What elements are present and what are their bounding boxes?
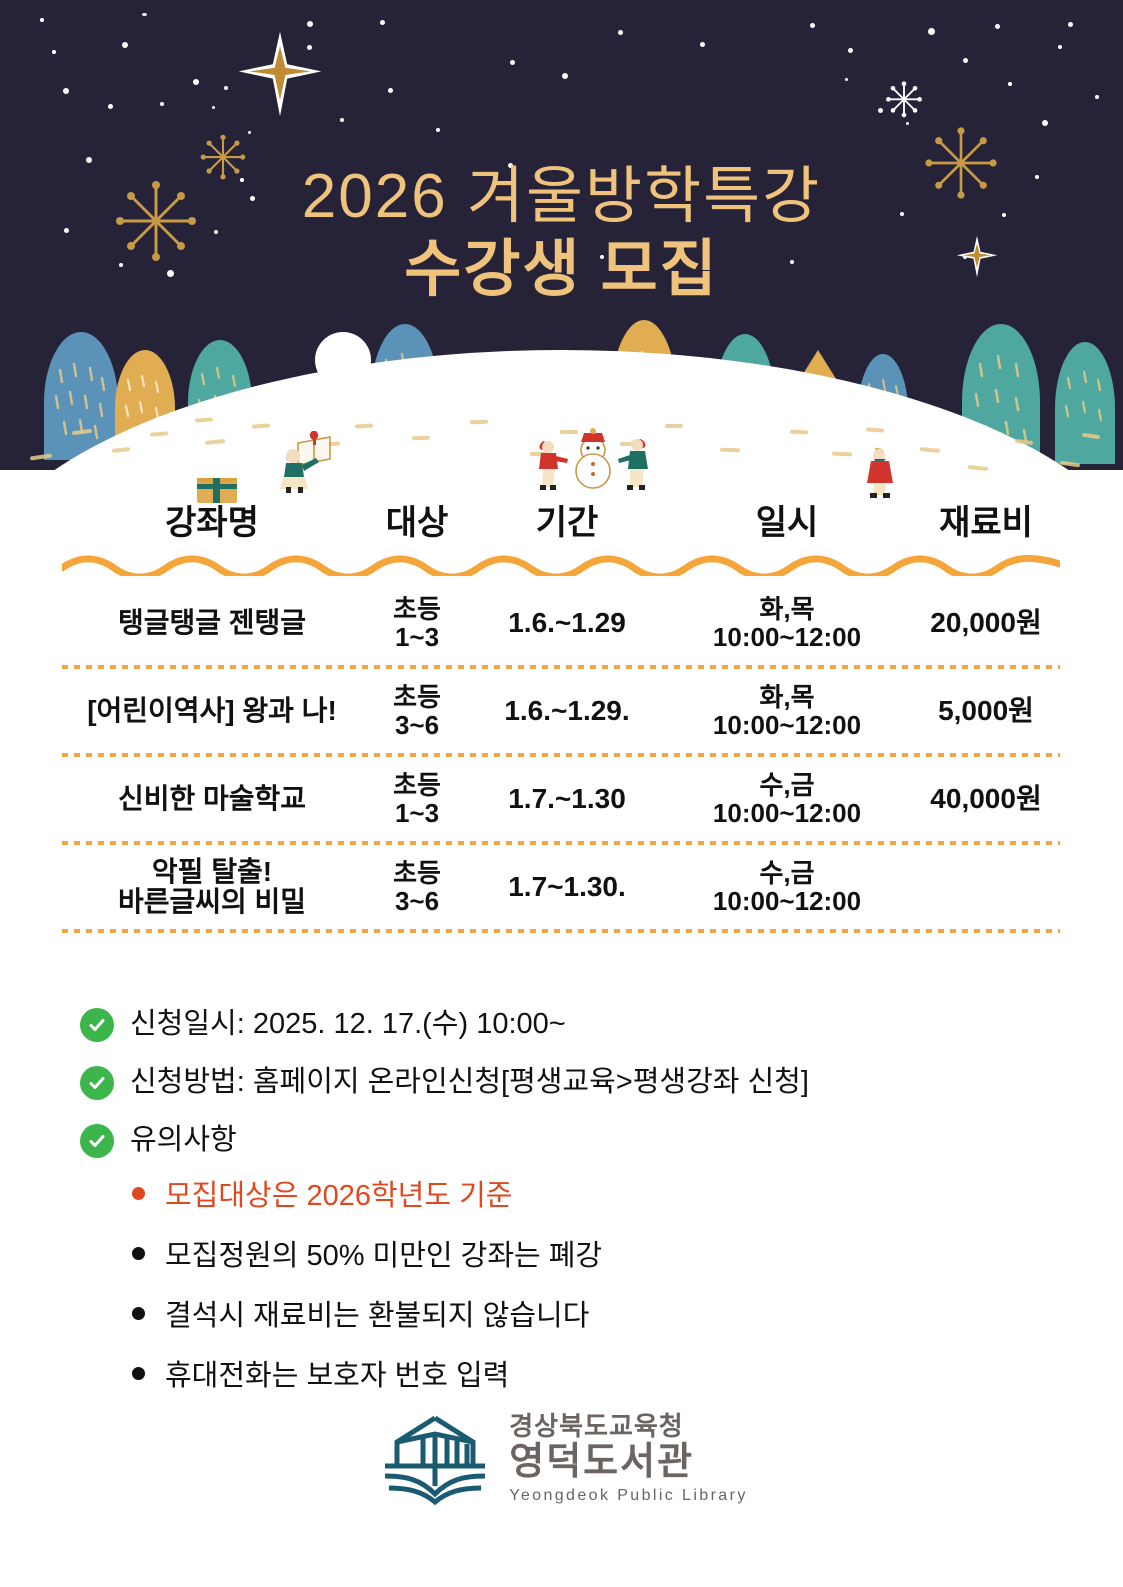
check-circle-icon <box>80 1066 114 1100</box>
table-row: [어린이역사] 왕과 나! 초등 3~6 1.6.~1.29. 화,목 10:0… <box>62 669 1060 753</box>
star-dot <box>436 128 440 132</box>
star-dot <box>1095 95 1099 99</box>
snow-mark <box>720 448 740 453</box>
course-name-line-2: 바른글씨의 비밀 <box>62 887 362 917</box>
wavy-divider <box>62 554 1060 576</box>
target-line-1: 초등 <box>362 771 472 799</box>
col-header-when: 일시 <box>662 495 912 544</box>
col-header-period: 기간 <box>472 495 662 544</box>
when-line-1: 화,목 <box>662 683 912 711</box>
cell-period: 1.7.~1.30 <box>472 784 662 814</box>
check-circle-icon <box>80 1008 114 1042</box>
snow-mark <box>790 430 808 435</box>
bullet-dot-icon <box>132 1187 145 1200</box>
snow-mark <box>470 420 488 425</box>
notice-text: 모집정원의 50% 미만인 강좌는 폐강 <box>165 1232 602 1274</box>
star-dot <box>40 18 44 22</box>
list-item: 휴대전화는 보호자 번호 입력 <box>132 1352 1060 1394</box>
info-apply-date-text: 신청일시: 2025. 12. 17.(수) 10:00~ <box>130 1009 566 1041</box>
course-name-line-1: 악필 탈출! <box>62 857 362 887</box>
child-with-book <box>272 425 334 500</box>
star-dot <box>810 23 815 28</box>
when-line-2: 10:00~12:00 <box>662 623 912 651</box>
star-dot <box>160 102 164 106</box>
cell-course-name: 신비한 마술학교 <box>62 784 362 814</box>
notice-text: 결석시 재료비는 환불되지 않습니다 <box>165 1292 589 1334</box>
star-dot <box>562 73 568 79</box>
bullet-dot-icon <box>132 1367 145 1380</box>
star-dot <box>340 118 344 122</box>
cell-target: 초등 1~3 <box>362 595 472 651</box>
target-line-2: 3~6 <box>362 887 472 915</box>
star-dot <box>307 21 313 27</box>
info-notice-heading: 유의사항 <box>80 1124 1060 1158</box>
cell-fee: 20,000원 <box>912 608 1060 638</box>
cell-target: 초등 1~3 <box>362 771 472 827</box>
info-section: 신청일시: 2025. 12. 17.(수) 10:00~ 신청방법: 홈페이지… <box>80 1008 1060 1412</box>
star-dot <box>1058 45 1062 49</box>
star-dot <box>142 13 147 16</box>
star-dot <box>388 88 393 93</box>
when-line-1: 수,금 <box>662 771 912 799</box>
poster: 2026 겨울방학특강 수강생 모집 강좌명 대상 기간 일시 재료비 탱글탱글… <box>0 0 1123 1587</box>
snowman-scene <box>530 425 670 500</box>
table-row: 악필 탈출! 바른글씨의 비밀 초등 3~6 1.7~1.30. 수,금 10:… <box>62 845 1060 929</box>
course-table: 강좌명 대상 기간 일시 재료비 탱글탱글 젠탱글 초등 1~3 1.6.~1.… <box>62 495 1060 933</box>
star-dot <box>63 88 69 94</box>
star-dot <box>963 58 968 63</box>
when-line-2: 10:00~12:00 <box>662 799 912 827</box>
info-apply-method: 신청방법: 홈페이지 온라인신청[평생교육>평생강좌 신청] <box>80 1066 1060 1100</box>
when-line-2: 10:00~12:00 <box>662 887 912 915</box>
cell-fee: 40,000원 <box>912 784 1060 814</box>
star-dot <box>1008 82 1012 86</box>
cell-period: 1.7~1.30. <box>472 872 662 902</box>
logo-line-3: Yeongdeok Public Library <box>509 1488 747 1504</box>
target-line-1: 초등 <box>362 859 472 887</box>
cell-when: 화,목 10:00~12:00 <box>662 595 912 651</box>
col-header-target: 대상 <box>362 495 472 544</box>
check-circle-icon <box>80 1124 114 1158</box>
star-dot <box>845 78 848 81</box>
row-divider <box>62 929 1060 933</box>
target-line-1: 초등 <box>362 683 472 711</box>
target-line-1: 초등 <box>362 595 472 623</box>
star-dot <box>928 28 935 35</box>
table-row: 신비한 마술학교 초등 1~3 1.7.~1.30 수,금 10:00~12:0… <box>62 757 1060 841</box>
cell-when: 수,금 10:00~12:00 <box>662 771 912 827</box>
star-dot <box>618 30 623 35</box>
notice-text: 휴대전화는 보호자 번호 입력 <box>165 1352 509 1394</box>
star-dot <box>995 24 1000 29</box>
cell-course-name: [어린이역사] 왕과 나! <box>62 696 362 726</box>
poster-title: 2026 겨울방학특강 수강생 모집 <box>0 160 1123 306</box>
notice-list: 모집대상은 2026학년도 기준 모집정원의 50% 미만인 강좌는 폐강 결석… <box>132 1172 1060 1394</box>
snow-mark <box>412 436 430 441</box>
logo-line-2: 영덕도서관 <box>509 1443 747 1481</box>
star-dot <box>52 50 56 54</box>
cell-course-name: 악필 탈출! 바른글씨의 비밀 <box>62 857 362 917</box>
star-dot <box>193 79 199 85</box>
cell-period: 1.6.~1.29 <box>472 608 662 638</box>
when-line-1: 화,목 <box>662 595 912 623</box>
title-line-2: 수강생 모집 <box>0 233 1123 306</box>
col-header-name: 강좌명 <box>62 495 362 544</box>
list-item: 결석시 재료비는 환불되지 않습니다 <box>132 1292 1060 1334</box>
list-item: 모집정원의 50% 미만인 강좌는 폐강 <box>132 1232 1060 1274</box>
target-line-2: 1~3 <box>362 623 472 651</box>
star-dot <box>224 86 228 90</box>
target-line-2: 1~3 <box>362 799 472 827</box>
info-notice-heading-text: 유의사항 <box>130 1125 237 1157</box>
cell-fee: 5,000원 <box>912 696 1060 726</box>
bullet-dot-icon <box>132 1247 145 1260</box>
snowflake-icon-white <box>883 78 925 123</box>
cell-target: 초등 3~6 <box>362 683 472 739</box>
cell-target: 초등 3~6 <box>362 859 472 915</box>
table-header-row: 강좌명 대상 기간 일시 재료비 <box>62 495 1060 548</box>
col-header-fee: 재료비 <box>912 495 1060 544</box>
bullet-dot-icon <box>132 1307 145 1320</box>
library-logo-mark-icon <box>375 1408 495 1508</box>
star-dot <box>510 60 515 65</box>
star-dot <box>122 42 128 48</box>
title-line-1: 2026 겨울방학특강 <box>0 160 1123 233</box>
info-apply-method-text: 신청방법: 홈페이지 온라인신청[평생교육>평생강좌 신청] <box>130 1067 809 1099</box>
star-dot <box>1068 22 1073 27</box>
star-dot <box>1042 120 1048 126</box>
cell-when: 수,금 10:00~12:00 <box>662 859 912 915</box>
table-row: 탱글탱글 젠탱글 초등 1~3 1.6.~1.29 화,목 10:00~12:0… <box>62 581 1060 665</box>
tree-icon <box>1052 340 1118 469</box>
cell-when: 화,목 10:00~12:00 <box>662 683 912 739</box>
star-dot <box>848 48 853 53</box>
when-line-1: 수,금 <box>662 859 912 887</box>
target-line-2: 3~6 <box>362 711 472 739</box>
eight-point-star-icon <box>235 30 325 125</box>
cell-period: 1.6.~1.29. <box>472 696 662 726</box>
library-logo-text: 경상북도교육청 영덕도서관 Yeongdeok Public Library <box>509 1413 747 1504</box>
star-dot <box>700 42 705 47</box>
star-dot <box>212 106 215 109</box>
list-item: 모집대상은 2026학년도 기준 <box>132 1172 1060 1214</box>
star-dot <box>380 20 385 25</box>
logo-line-1: 경상북도교육청 <box>509 1413 747 1439</box>
when-line-2: 10:00~12:00 <box>662 711 912 739</box>
cell-course-name: 탱글탱글 젠탱글 <box>62 608 362 638</box>
library-logo: 경상북도교육청 영덕도서관 Yeongdeok Public Library <box>0 1408 1123 1508</box>
star-dot <box>108 104 113 109</box>
info-apply-date: 신청일시: 2025. 12. 17.(수) 10:00~ <box>80 1008 1060 1042</box>
notice-text: 모집대상은 2026학년도 기준 <box>165 1172 512 1214</box>
